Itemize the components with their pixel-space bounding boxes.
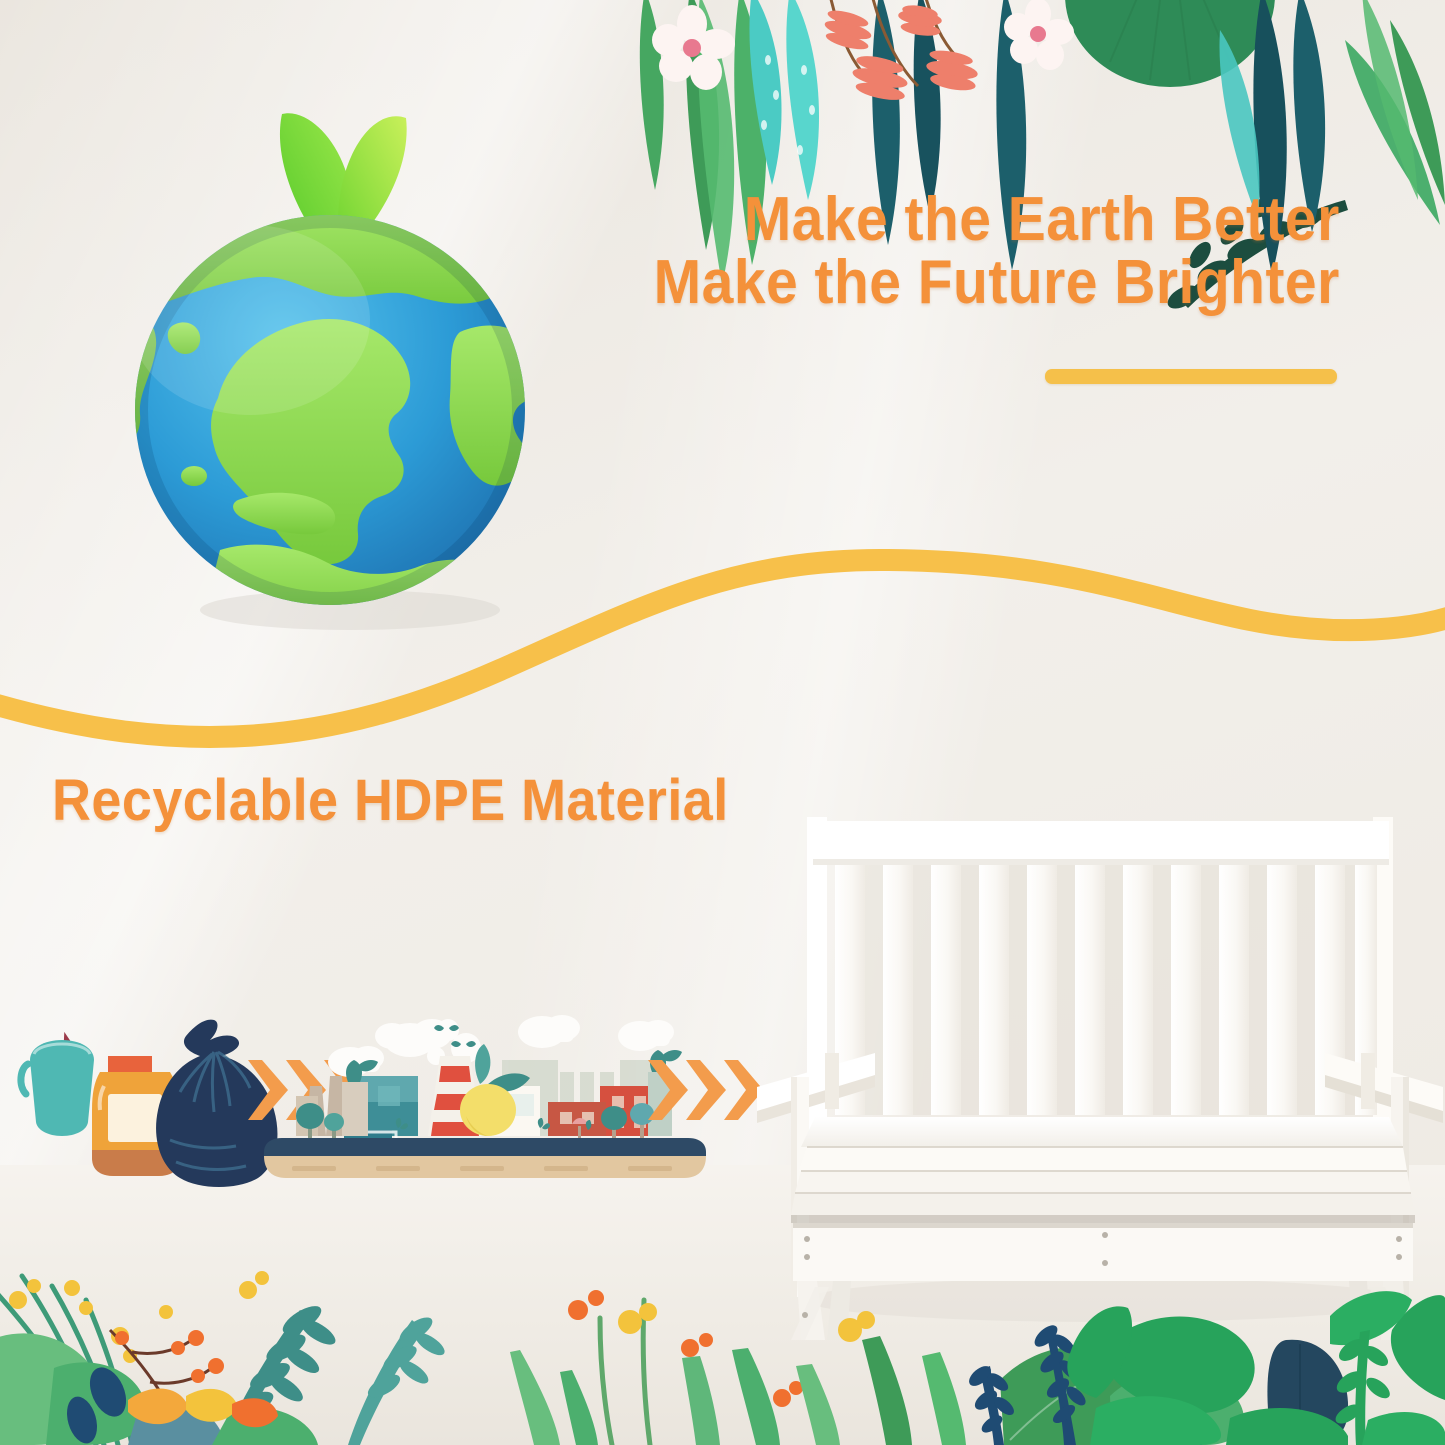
teal-fern-2 xyxy=(348,1313,448,1445)
promo-banner: Make the Earth Better Make the Future Br… xyxy=(0,0,1445,1445)
bottom-foliage-border xyxy=(0,0,1445,1445)
